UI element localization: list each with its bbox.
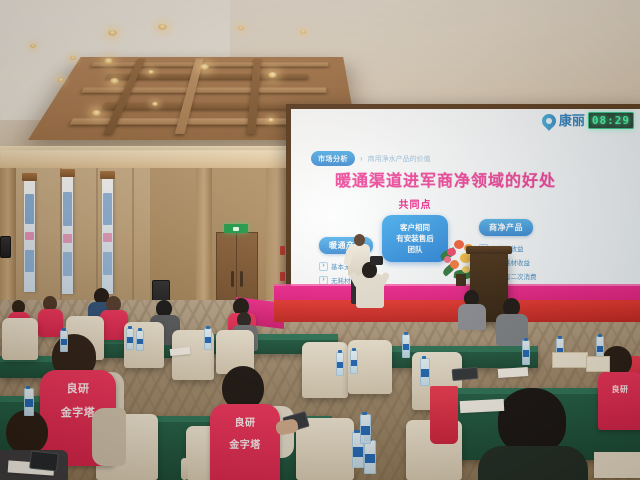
stage-skirt [274, 300, 640, 322]
fire-alarm-icon [280, 246, 285, 255]
hanging-banner-3 [102, 178, 113, 294]
water-bottle [522, 340, 530, 365]
chair [2, 318, 38, 360]
water-bottle [60, 330, 68, 352]
slide-title: 暖通渠道进军商净领域的好处 [335, 167, 556, 191]
chevron-right-icon: › [319, 262, 328, 271]
name-card [552, 352, 588, 368]
wall-column-mid [196, 168, 212, 318]
name-card [586, 356, 610, 372]
water-drop-icon [539, 111, 559, 131]
red-cloth [430, 386, 458, 444]
water-bottle [24, 388, 34, 416]
paper-sheet [460, 399, 505, 413]
presenter-head [354, 234, 365, 246]
water-bottle [364, 440, 376, 474]
chevron-right-icon: › [360, 154, 363, 163]
water-bottle [336, 352, 344, 376]
breadcrumb-text: 商用净水产品的价值 [368, 154, 431, 164]
vest-text-line1: 良研 [210, 420, 280, 427]
camera [370, 256, 383, 265]
right-column-heading: 商净产品 [479, 219, 533, 236]
water-bottle [204, 328, 212, 350]
hanging-banner-1 [24, 180, 35, 292]
water-bottle [136, 330, 144, 351]
vest-text-line1: 良研 [598, 386, 640, 393]
loudspeaker-ceiling [0, 236, 11, 258]
middle-column-heading: 共同点 [382, 196, 448, 211]
breadcrumb-badge: 市场分析 [311, 151, 355, 166]
brand-name: 康丽 [559, 114, 585, 127]
brand-logo: 康丽 08:29 [542, 112, 634, 129]
smartphone [29, 451, 59, 472]
vest-text-line2: 金字塔 [210, 442, 280, 449]
notebook [594, 452, 640, 478]
conference-hall-photo: 康丽 08:29 市场分析 › 商用净水产品的价值 暖通渠道进军商净领域的好处 … [0, 0, 640, 480]
exit-sign [224, 224, 248, 233]
water-bottle [402, 334, 410, 358]
water-bottle [126, 328, 134, 350]
middle-line-2: 有安装售后 [386, 233, 444, 244]
middle-line-1: 客户相同 [386, 222, 444, 233]
middle-line-3: 团队 [386, 244, 444, 255]
water-bottle [360, 414, 371, 444]
session-clock: 08:29 [588, 112, 634, 129]
fire-alarm-icon [280, 272, 285, 281]
water-bottle [420, 358, 430, 386]
breadcrumb: 市场分析 › 商用净水产品的价值 [311, 151, 431, 166]
vest-text-line1: 良研 [40, 386, 116, 393]
smartphone [452, 367, 479, 381]
hanging-banner-2 [62, 176, 73, 294]
table-row [388, 346, 538, 368]
water-bottle [350, 350, 358, 374]
